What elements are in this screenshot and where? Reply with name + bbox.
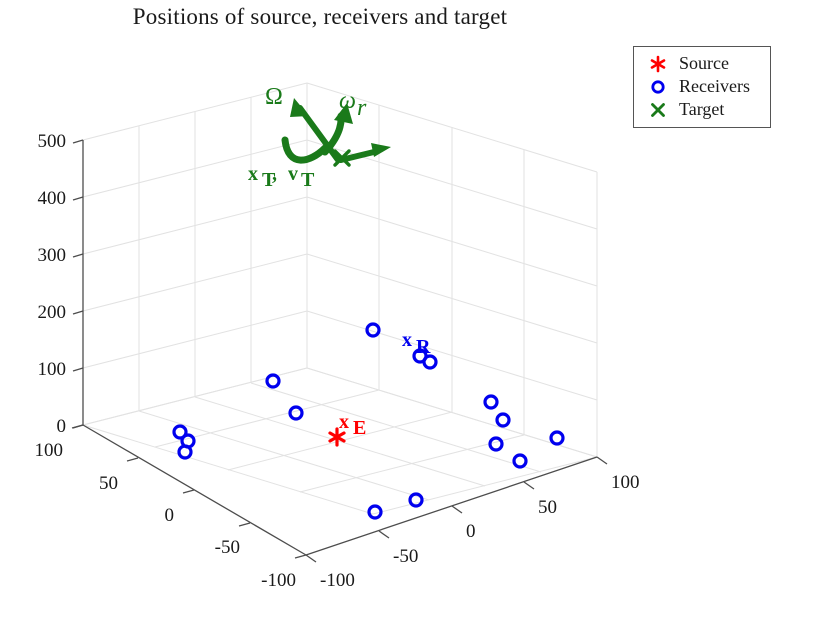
z-tick-label: 100 xyxy=(38,359,67,380)
y-tick-label: 100 xyxy=(611,472,640,493)
figure-canvas: Positions of source, receivers and targe… xyxy=(0,0,830,623)
receiver-point xyxy=(497,414,509,426)
circle-icon xyxy=(641,78,675,96)
receiver-point xyxy=(490,438,502,450)
legend-label-source: Source xyxy=(675,53,729,74)
receivers-label: x R xyxy=(402,329,431,358)
z-tick-label: 0 xyxy=(57,416,67,437)
asterisk-icon xyxy=(641,55,675,73)
receiver-point xyxy=(485,396,497,408)
svg-text:x: x xyxy=(402,329,412,351)
omega-label: Ω xyxy=(265,84,283,110)
target-vector-annotations: Ω ω r x T , v T xyxy=(248,84,391,191)
x-tick-label: -100 xyxy=(261,570,296,591)
axis-frame xyxy=(83,140,597,555)
receivers-series xyxy=(174,324,563,518)
svg-text:r: r xyxy=(357,95,367,121)
z-tick-label: 200 xyxy=(38,302,67,323)
svg-text:T: T xyxy=(301,169,315,191)
cross-icon xyxy=(641,101,675,119)
legend-label-target: Target xyxy=(675,99,724,120)
x-tick-label: 100 xyxy=(35,440,64,461)
svg-text:,: , xyxy=(272,163,277,185)
x-tick-label: -50 xyxy=(215,537,240,558)
legend-item-receivers: Receivers xyxy=(641,75,763,98)
svg-text:v: v xyxy=(288,163,298,185)
target-position-velocity-label: x T , v T xyxy=(248,163,315,191)
y-tick-label: -50 xyxy=(393,546,418,567)
legend-item-target: Target xyxy=(641,98,763,121)
omega-arrow xyxy=(290,98,338,160)
x-tick-label: 50 xyxy=(99,473,118,494)
z-tick-label: 500 xyxy=(38,131,67,152)
receiver-point xyxy=(551,432,563,444)
grid-floor xyxy=(83,368,597,514)
svg-text:x: x xyxy=(248,163,258,185)
x-tick-label: 0 xyxy=(165,505,175,526)
svg-text:E: E xyxy=(353,417,366,439)
z-axis-ticks xyxy=(73,140,83,428)
y-axis-tick-labels: -100 -50 0 50 100 xyxy=(320,472,640,591)
svg-text:ω: ω xyxy=(339,88,356,114)
z-tick-label: 300 xyxy=(38,245,67,266)
legend-item-source: Source xyxy=(641,52,763,75)
svg-text:x: x xyxy=(339,411,349,433)
y-tick-label: -100 xyxy=(320,570,355,591)
receiver-point xyxy=(290,407,302,419)
legend-label-receivers: Receivers xyxy=(675,76,750,97)
svg-text:R: R xyxy=(416,336,431,358)
z-axis-tick-labels: 500 400 300 200 100 0 xyxy=(38,131,67,437)
y-tick-label: 50 xyxy=(538,497,557,518)
y-tick-label: 0 xyxy=(466,521,476,542)
legend: Source Receivers Target xyxy=(633,46,771,128)
grid-right-wall xyxy=(307,83,597,457)
y-axis-ticks xyxy=(306,457,607,562)
z-tick-label: 400 xyxy=(38,188,67,209)
